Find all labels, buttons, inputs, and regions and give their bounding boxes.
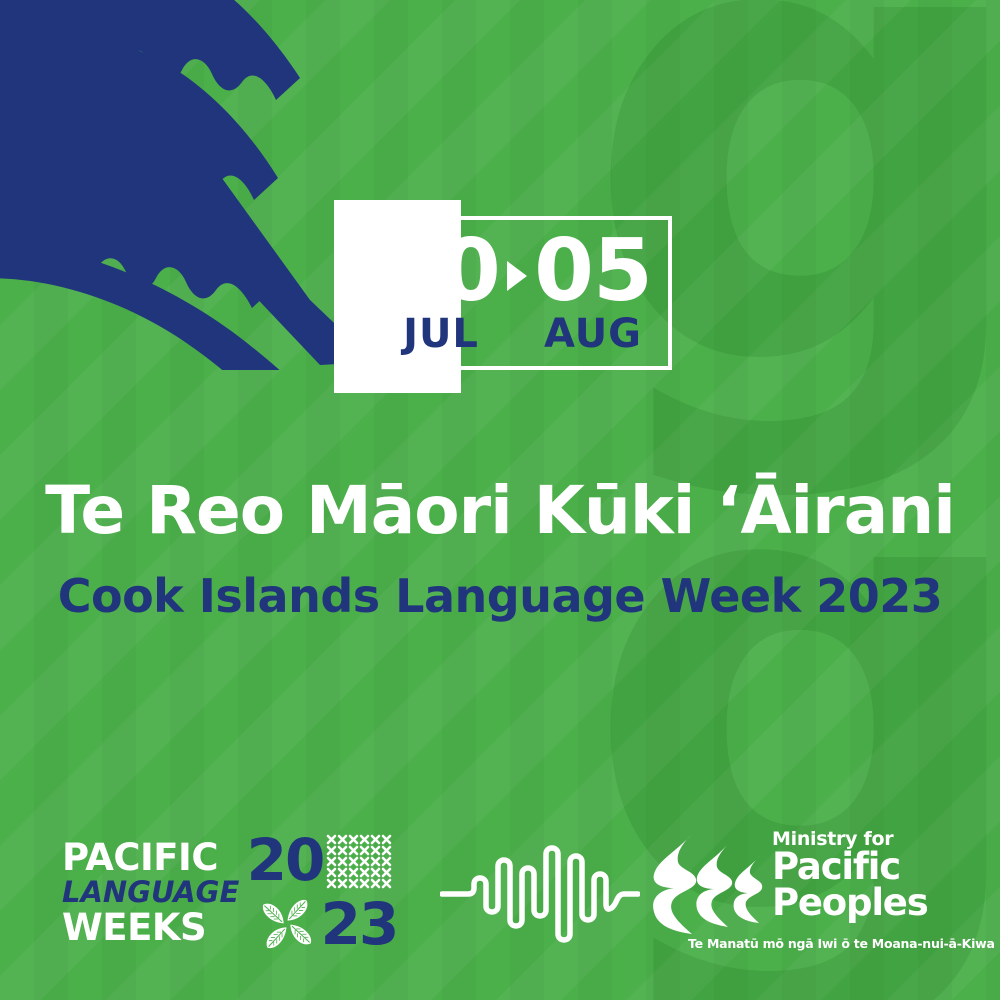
date-end: 05 AUG — [528, 232, 658, 353]
date-start-day: 30 — [382, 232, 500, 311]
plw-year-block: 20 — [250, 829, 400, 957]
date-end-day: 05 — [534, 232, 652, 311]
ministry-line-pacific: Pacific — [772, 849, 952, 885]
four-leaf-icon — [252, 893, 322, 955]
plw-line-pacific: PACIFIC — [62, 840, 240, 876]
ministry-line-peoples: Peoples — [772, 885, 952, 921]
date-card: 30 JUL 05 AUG — [334, 200, 679, 396]
x-grid-icon — [324, 831, 394, 893]
plw-year-23: 23 — [321, 895, 398, 953]
date-start-month: JUL — [403, 314, 479, 354]
triple-wave-koru-icon — [652, 832, 770, 936]
play-triangle-icon — [506, 261, 528, 291]
poster-canvas: g g 30 JUL 05 — [0, 0, 1000, 1000]
plw-line-language: LANGUAGE — [62, 876, 240, 908]
headline-subtitle: Cook Islands Language Week 2023 — [0, 572, 1000, 620]
ministry-wordmark: Ministry for Pacific Peoples — [772, 830, 952, 920]
plw-year-23-cell: 23 — [324, 893, 394, 955]
plw-year-20-cell: 20 — [250, 829, 320, 891]
plw-year-20: 20 — [247, 831, 324, 889]
headline-title: Te Reo Māori Kūki ‘Āirani — [0, 476, 1000, 545]
plw-line-weeks: WEEKS — [62, 909, 240, 946]
pacific-language-weeks-logo: PACIFIC LANGUAGE WEEKS 20 — [62, 828, 402, 958]
soundwave-icon — [440, 844, 640, 944]
date-card-content: 30 JUL 05 AUG — [362, 216, 672, 370]
ministry-tagline: Te Manatū mō ngā Iwi ō te Moana-nui-ā-Ki… — [688, 938, 952, 951]
date-end-month: AUG — [544, 314, 642, 354]
ministry-for-pacific-peoples-logo: Ministry for Pacific Peoples Te Manatū m… — [652, 826, 952, 962]
plw-wordmark: PACIFIC LANGUAGE WEEKS — [62, 840, 240, 946]
footer-logo-row: PACIFIC LANGUAGE WEEKS 20 — [0, 822, 1000, 972]
date-start: 30 JUL — [376, 232, 506, 353]
